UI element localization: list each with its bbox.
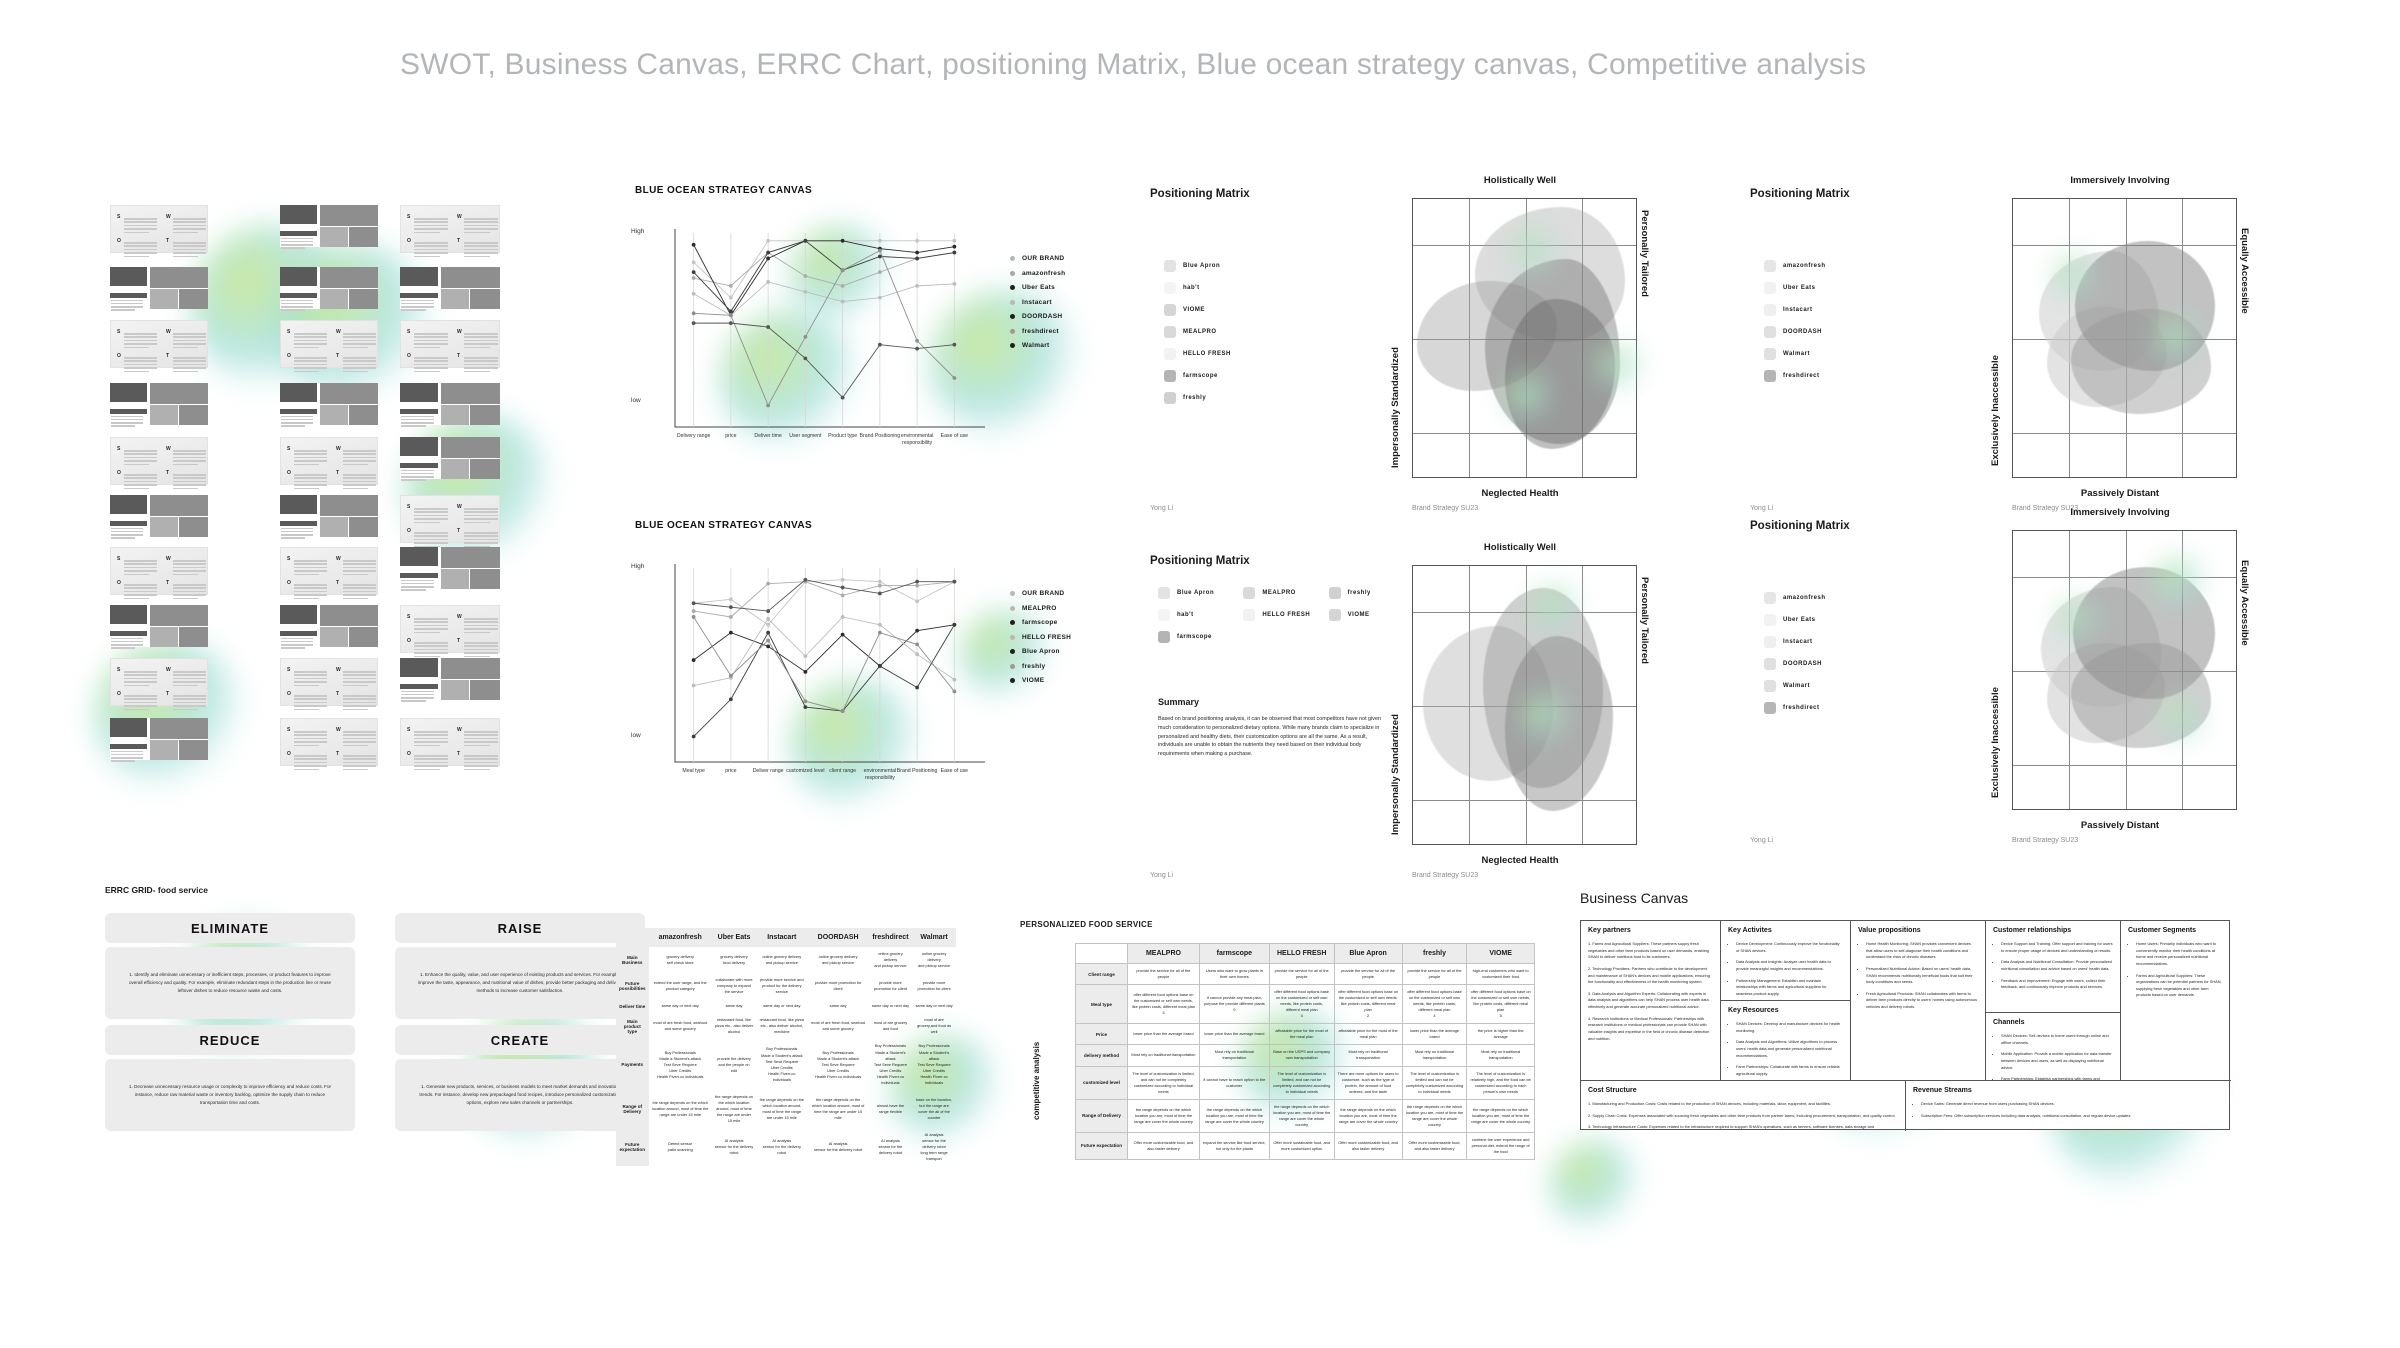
text-line: [124, 249, 157, 251]
legend-marker-icon: [1010, 271, 1015, 276]
legend-swatch: [1164, 282, 1176, 294]
text-line: [124, 360, 157, 362]
text-line: [124, 587, 157, 589]
text-line: [111, 644, 143, 646]
table-cell: provide the service for all of the peopl…: [1128, 964, 1200, 985]
text-line: [281, 647, 305, 649]
summary-heading: Summary: [1158, 697, 1390, 707]
legend-marker-icon: [1010, 678, 1015, 683]
text-line: [173, 702, 206, 704]
table-cell: most of are grocery and food: [869, 1013, 912, 1039]
text-line: [343, 333, 376, 335]
table-cell: Most rely on traditional transportation: [1128, 1045, 1200, 1066]
legend-marker-icon: [1010, 620, 1015, 625]
legend-swatch: [1243, 587, 1255, 599]
bmc-list-item: Mobile Application: Provide a mobile app…: [2001, 1051, 2113, 1071]
swot-letter: W: [457, 329, 462, 335]
text-line: [173, 347, 198, 349]
row-label: Meal type: [1076, 985, 1128, 1024]
swot-slide-thumbnail: SWOT: [110, 547, 208, 595]
text-line: [124, 367, 157, 369]
text-line: [464, 221, 498, 223]
legend-label: Uber Eats: [1783, 285, 1816, 291]
slide-image: [320, 267, 378, 288]
text-line: [294, 598, 319, 600]
slide-thumbnail: [400, 267, 500, 309]
slide-image: [470, 459, 500, 479]
column-header: Instacart: [756, 928, 807, 947]
text-line: [124, 245, 157, 247]
text-line: [464, 535, 498, 537]
text-line: [173, 560, 206, 562]
summary-text: Based on brand positioning analysis, it …: [1158, 715, 1390, 759]
legend-label: HELLO FRESH: [1262, 612, 1310, 618]
slide-thumbnail: [280, 495, 378, 537]
text-line: [173, 481, 206, 483]
text-line: [464, 333, 498, 335]
text-line: [464, 745, 490, 747]
axis-top-label: Immersively Involving: [2000, 507, 2240, 518]
legend-swatch: [1164, 326, 1176, 338]
text-line: [414, 621, 448, 623]
text-line: [111, 537, 135, 539]
text-line: [111, 638, 143, 640]
legend-swatch: [1329, 609, 1341, 621]
legend-swatch: [1764, 282, 1776, 294]
legend-swatch: [1164, 392, 1176, 404]
table-cell: the range depends on the which location …: [807, 1090, 868, 1128]
text-line: [343, 731, 376, 733]
text-line: [124, 598, 149, 600]
bmc-list-item: 3. Data Analysis and Algorithm Experts: …: [1588, 991, 1713, 1011]
text-line: [343, 357, 376, 359]
legend-label: freshdirect: [1783, 705, 1820, 711]
table-cell: The level of customization is limited, a…: [1269, 1066, 1334, 1099]
column-header: MEALPRO: [1128, 944, 1200, 964]
table-cell: Offer more sustainable food, and more cu…: [1269, 1132, 1334, 1159]
legend-item: amazonfresh: [1010, 270, 1065, 277]
legend-item: Blue Apron: [1010, 648, 1071, 655]
text-line: [173, 591, 206, 593]
text-line: [173, 232, 198, 234]
text-line: [124, 484, 157, 486]
legend-item: freshdirect: [1764, 370, 1826, 382]
decorative-blob: [1550, 1140, 1640, 1230]
table-cell: Most rely on traditional transportation: [1402, 1045, 1467, 1066]
legend-item: Uber Eats: [1764, 282, 1826, 294]
swot-letter: S: [287, 446, 290, 452]
slide-image: [400, 573, 438, 578]
text-line: [414, 511, 448, 513]
legend-swatch: [1764, 348, 1776, 360]
text-line: [464, 364, 498, 366]
text-line: [401, 422, 434, 424]
text-line: [414, 522, 440, 524]
slide-image: [280, 383, 317, 402]
column-header: Walmart: [912, 928, 956, 947]
legend-item: farmscope: [1158, 631, 1237, 643]
table-cell: AI analysissensor for the delivery robot: [712, 1128, 756, 1166]
text-line: [294, 769, 319, 771]
table-cell: most of are fresh food, seafood and some…: [649, 1013, 712, 1039]
table-cell: provide more promotion for client: [807, 973, 868, 999]
legend-marker-icon: [1010, 343, 1015, 348]
text-line: [343, 453, 376, 455]
legend-label: farmscope: [1177, 634, 1212, 640]
slide-image: [150, 267, 208, 288]
swot-letter: O: [117, 353, 121, 359]
text-line: [343, 450, 376, 452]
text-line: [464, 758, 498, 760]
legend-item: farmscope: [1164, 370, 1231, 382]
legend-item: MEALPRO: [1164, 326, 1231, 338]
legend-item: OUR BRAND: [1010, 255, 1065, 262]
text-line: [464, 632, 490, 634]
swot-slide-thumbnail: SWOT: [280, 437, 378, 485]
text-line: [173, 488, 198, 490]
text-line: [173, 245, 206, 247]
text-line: [414, 628, 448, 630]
text-line: [294, 570, 327, 572]
slide-image: [349, 227, 378, 247]
bmc-heading: Cost Structure: [1588, 1087, 1898, 1094]
competitive-analysis-grocery: amazonfreshUber EatsInstacartDOORDASHfre…: [616, 928, 956, 1166]
table-cell: affordable price for the most of the mea…: [1334, 1024, 1402, 1045]
legend-label: VIOME: [1183, 307, 1205, 313]
swot-letter: S: [407, 614, 410, 620]
text-line: [173, 453, 206, 455]
text-line: [294, 450, 327, 452]
text-line: [414, 367, 448, 369]
bmc-list-item: Personalized Nutritional Advice: Based o…: [1866, 966, 1978, 986]
text-line: [124, 671, 157, 673]
text-line: [414, 642, 448, 644]
text-line: [294, 460, 327, 462]
matrix-plot: [1412, 565, 1637, 845]
text-line: [111, 754, 143, 756]
positioning-matrix-grocery-2: Positioning Matrix amazonfreshUber EatsI…: [1750, 520, 2310, 850]
text-line: [414, 347, 440, 349]
swot-letter: T: [166, 353, 169, 359]
text-line: [401, 303, 434, 305]
swot-letter: O: [117, 580, 121, 586]
text-line: [464, 340, 498, 342]
swot-slide-thumbnail: SWOT: [280, 320, 378, 368]
slide-image: [110, 605, 147, 624]
text-line: [124, 567, 157, 569]
bmc-list: Device Sales: Generate direct revenue fr…: [1913, 1101, 2224, 1119]
bmc-list-item: SHAN Devices: Sell devices to home users…: [2001, 1033, 2113, 1046]
swot-slide-thumbnail: SWOT: [400, 718, 500, 766]
text-line: [343, 464, 368, 466]
table-row: Pricelower price than the average brandl…: [1076, 1024, 1535, 1045]
slide-image: [349, 627, 378, 647]
blue-ocean-1-plot: [657, 223, 987, 453]
slide-image: [441, 289, 469, 309]
slide-image: [110, 409, 147, 414]
swot-letter: O: [287, 580, 291, 586]
text-line: [281, 537, 305, 539]
swot-letter: S: [287, 667, 290, 673]
text-line: [343, 484, 376, 486]
swot-letter: T: [336, 470, 339, 476]
text-line: [173, 563, 206, 565]
legend-label: Instacart: [1783, 639, 1813, 645]
errc-grid-section: ERRC GRID- food service ELIMINATE1. Iden…: [105, 885, 665, 1143]
slide-image: [110, 744, 147, 749]
text-line: [124, 464, 149, 466]
slide-image: [150, 517, 177, 537]
text-line: [111, 531, 143, 533]
legend-item: DOORDASH: [1764, 326, 1826, 338]
blue-ocean-canvas-2: BLUE OCEAN STRATEGY CANVAS High low Meal…: [635, 520, 1065, 810]
text-line: [414, 518, 448, 520]
legend-item: Walmart: [1764, 680, 1826, 692]
text-line: [111, 309, 135, 311]
legend-label: MEALPRO: [1262, 590, 1296, 596]
slide-image: [280, 231, 317, 236]
text-line: [173, 252, 206, 254]
slide-image: [150, 605, 208, 626]
text-line: [464, 225, 498, 227]
row-label: Main Business: [616, 947, 649, 973]
text-line: [124, 702, 157, 704]
bmc-list-item: 3. Technology Infrastructure Costs: Expe…: [1588, 1124, 1898, 1131]
text-line: [294, 587, 327, 589]
text-line: [414, 228, 448, 230]
table-cell: most of are fresh food, seafood and some…: [807, 1013, 868, 1039]
legend-marker-icon: [1010, 329, 1015, 334]
legend-label: amazonfresh: [1022, 270, 1065, 277]
swot-slide-thumbnail: SWOT: [400, 320, 500, 368]
text-line: [281, 241, 313, 243]
text-line: [294, 702, 327, 704]
table-cell: same day or next day: [912, 999, 956, 1013]
legend-item: HELLO FRESH: [1164, 348, 1231, 360]
legend-item: freshdirect: [1010, 328, 1065, 335]
text-line: [401, 586, 434, 588]
text-line: [173, 674, 206, 676]
text-line: [401, 589, 426, 591]
bmc-list: SHAN Devices: Sell devices to home users…: [1993, 1033, 2113, 1081]
slide-image: [441, 680, 469, 700]
bmc-list-item: Data Analysis and Nutritional Consultati…: [2001, 959, 2113, 972]
legend-swatch: [1164, 348, 1176, 360]
text-line: [124, 225, 157, 227]
text-line: [173, 678, 206, 680]
positioning-matrix-food-2: Positioning Matrix Blue ApronMEALPROfres…: [1150, 555, 1710, 885]
text-line: [401, 309, 426, 311]
table-cell: provide the service for all of the peopl…: [1334, 964, 1402, 985]
text-line: [124, 256, 149, 258]
table-cell: Detect sensorpatin scanning: [649, 1128, 712, 1166]
text-line: [343, 336, 376, 338]
text-line: [294, 360, 327, 362]
axis-bottom-label: Neglected Health: [1400, 855, 1640, 866]
swot-letter: T: [336, 353, 339, 359]
swot-letter: O: [407, 238, 411, 244]
legend-label: hab't: [1177, 612, 1194, 618]
bmc-list-item: Data Analysis and Algorithms: Utilize al…: [1736, 1039, 1843, 1059]
legend-label: amazonfresh: [1783, 263, 1826, 269]
slide-image: [320, 405, 347, 425]
text-line: [124, 457, 157, 459]
table-cell: extend the user range, and the product c…: [649, 973, 712, 999]
blue-ocean-canvas-1: BLUE OCEAN STRATEGY CANVAS High low Deli…: [635, 185, 1065, 475]
matrix-legend: amazonfreshUber EatsInstacartDOORDASHWal…: [1764, 260, 1826, 392]
slide-thumbnail: [400, 658, 500, 700]
text-line: [464, 642, 498, 644]
table-cell: the range depends on the which location …: [712, 1090, 756, 1128]
table-cell: lower price than the average brand: [1128, 1024, 1200, 1045]
legend-item: amazonfresh: [1764, 592, 1826, 604]
swot-letter: T: [166, 238, 169, 244]
text-line: [111, 647, 135, 649]
text-line: [343, 364, 376, 366]
slide-image: [470, 569, 500, 589]
text-line: [294, 563, 327, 565]
bmc-list-item: Subscription Fees: Offer subscription se…: [1921, 1113, 2224, 1120]
axis-right-label: Equally Accessible: [2239, 560, 2250, 646]
text-line: [281, 638, 313, 640]
text-line: [124, 477, 157, 479]
text-line: [294, 731, 327, 733]
table-cell: offer different food options base on the…: [1334, 985, 1402, 1024]
text-line: [124, 591, 157, 593]
swot-letter: T: [336, 580, 339, 586]
legend-label: Blue Apron: [1183, 263, 1220, 269]
legend-label: OUR BRAND: [1022, 590, 1064, 597]
positioning-matrix-grocery-1: Positioning Matrix amazonfreshUber EatsI…: [1750, 188, 2310, 518]
swot-letter: O: [287, 751, 291, 757]
axis-right-label: Equally Accessible: [2239, 228, 2250, 314]
slide-image: [320, 205, 378, 226]
slide-image: [441, 405, 469, 425]
bmc-list-item: Farm Partnerships: Collaborate with farm…: [1736, 1064, 1843, 1077]
text-line: [124, 709, 149, 711]
slide-image: [441, 569, 469, 589]
text-line: [124, 594, 157, 596]
column-header: HELLO FRESH: [1269, 944, 1334, 964]
text-line: [281, 303, 313, 305]
swot-letter: T: [336, 691, 339, 697]
legend-swatch: [1764, 326, 1776, 338]
slide-image: [150, 383, 208, 404]
table-cell: most of are grocery,and food as well: [912, 1013, 956, 1039]
text-line: [464, 656, 490, 658]
slide-image: [400, 293, 438, 298]
text-line: [343, 460, 376, 462]
text-line: [124, 584, 157, 586]
text-line: [464, 625, 498, 627]
bmc-heading: Customer relationships: [1993, 927, 2113, 934]
text-line: [401, 697, 434, 699]
table-cell: same day or next day: [649, 999, 712, 1013]
text-line: [124, 698, 157, 700]
errc-create-heading: CREATE: [395, 1025, 645, 1055]
swot-letter: O: [407, 528, 411, 534]
swot-slide-thumbnail: SWOT: [280, 547, 378, 595]
text-line: [343, 738, 376, 740]
legend-swatch: [1764, 614, 1776, 626]
text-line: [464, 232, 490, 234]
text-line: [124, 681, 157, 683]
table-cell: provide the delivery and the people on e…: [712, 1039, 756, 1089]
slide-image: [470, 289, 500, 309]
text-line: [124, 221, 157, 223]
table-cell: provide the service for all of the peopl…: [1269, 964, 1334, 985]
text-line: [414, 252, 448, 254]
table-cell: AI analysissensor for the delivery robot: [756, 1128, 807, 1166]
slide-image: [349, 517, 378, 537]
text-line: [464, 242, 498, 244]
text-line: [294, 698, 327, 700]
swot-letter: S: [407, 329, 410, 335]
personalized-food-service-section: PERSONALIZED FOOD SERVICE competitive an…: [1020, 920, 1480, 1160]
table-cell: offer different food options base on the…: [1402, 985, 1467, 1024]
table-cell: lower price than the average brand: [1199, 1024, 1269, 1045]
text-line: [111, 306, 143, 308]
legend-label: Walmart: [1022, 342, 1050, 349]
table-cell: provide more service and product for the…: [756, 973, 807, 999]
slide-image: [441, 658, 500, 679]
pfs-title: PERSONALIZED FOOD SERVICE: [1020, 920, 1480, 929]
legend-label: Walmart: [1783, 351, 1810, 357]
slide-image: [280, 495, 317, 514]
text-line: [294, 347, 319, 349]
text-line: [401, 580, 434, 582]
legend-item: DOORDASH: [1010, 313, 1065, 320]
author-credit: Yong Li: [1150, 505, 1173, 512]
text-line: [294, 457, 327, 459]
text-line: [401, 416, 434, 418]
text-line: [343, 741, 376, 743]
text-line: [401, 470, 434, 472]
legend-label: Walmart: [1783, 683, 1810, 689]
swot-letter: T: [457, 751, 460, 757]
swot-letter: S: [117, 446, 120, 452]
slide-thumbnail: [280, 605, 378, 647]
legend-swatch: [1164, 260, 1176, 272]
row-label: Payments: [616, 1039, 649, 1089]
text-line: [401, 306, 434, 308]
text-line: [173, 587, 206, 589]
axis-bottom-label: Passively Distant: [2000, 820, 2240, 831]
table-row: Meal typeoffer different food options ba…: [1076, 985, 1535, 1024]
bmc-list: Device Development: Continuously improve…: [1728, 941, 1843, 997]
swot-letter: O: [407, 353, 411, 359]
text-line: [343, 678, 376, 680]
slide-image: [320, 517, 347, 537]
table-cell: the price is higher than the average: [1467, 1024, 1535, 1045]
text-line: [281, 641, 313, 643]
legend-swatch: [1764, 260, 1776, 272]
row-label: Price: [1076, 1024, 1128, 1045]
legend-item: freshly: [1329, 587, 1408, 599]
text-line: [281, 300, 313, 302]
text-line: [464, 249, 498, 251]
text-line: [173, 450, 206, 452]
legend-item: Instacart: [1764, 636, 1826, 648]
category-label: Ease of use: [924, 433, 984, 440]
legend-item: Walmart: [1010, 342, 1065, 349]
matrix-legend: Blue ApronMEALPROfreshlyhab'tHELLO FRESH…: [1158, 587, 1408, 653]
text-line: [401, 473, 434, 475]
swot-slide-thumbnail: SWOT: [280, 658, 378, 706]
text-line: [343, 709, 368, 711]
legend-swatch: [1329, 587, 1341, 599]
text-line: [294, 560, 327, 562]
